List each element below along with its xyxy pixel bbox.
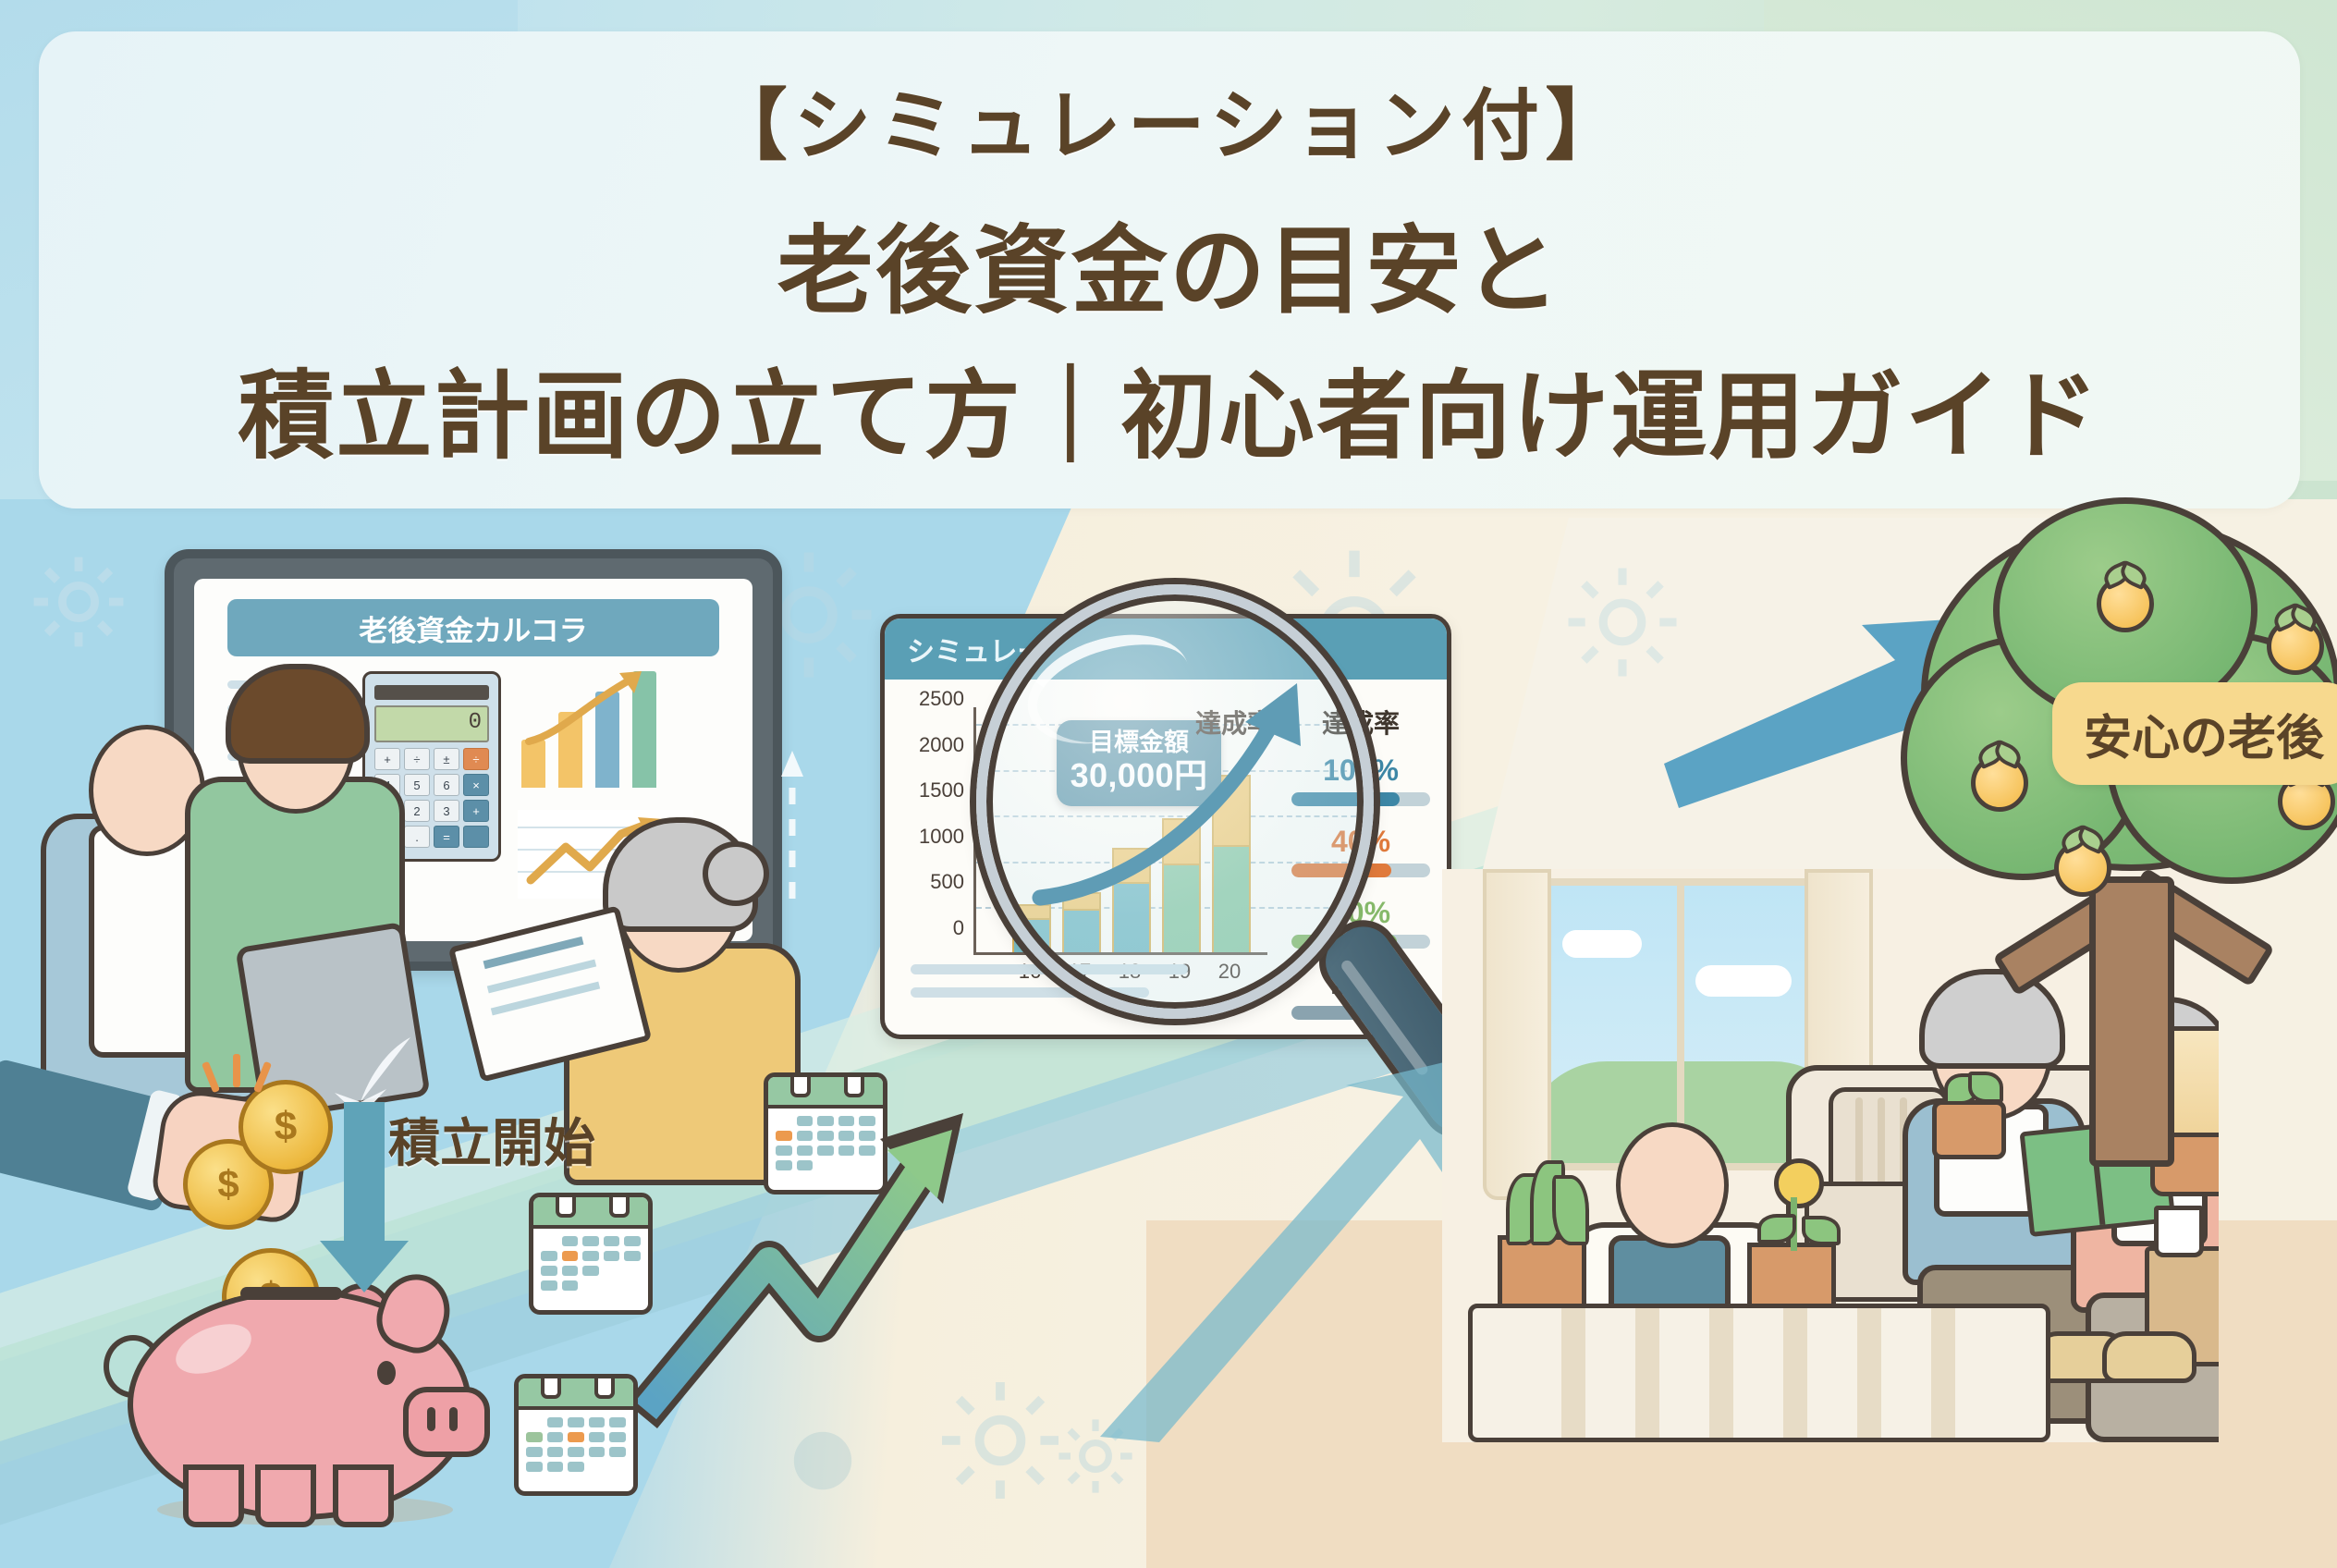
rug <box>1468 1304 2050 1442</box>
anshin-badge: 安心の老後 <box>2052 682 2337 785</box>
fruit-icon <box>1971 754 2028 812</box>
y-tick: 2500 <box>919 687 964 711</box>
y-tick: 1500 <box>919 778 964 802</box>
y-tick: 500 <box>930 870 964 894</box>
tsumitate-start-label: 積立開始 <box>388 1102 595 1177</box>
y-tick: 2000 <box>919 733 964 757</box>
piggy-bank-icon <box>102 1246 499 1524</box>
y-tick: 0 <box>953 916 964 940</box>
coin-icon: $ <box>239 1080 333 1174</box>
calendar-icon <box>529 1193 653 1315</box>
title-line-2: 老後資金の目安と <box>777 192 1562 332</box>
mug-icon <box>2154 1206 2204 1257</box>
fruit-icon <box>2097 575 2154 632</box>
fruit-icon <box>2267 618 2324 675</box>
gear-icon <box>28 551 129 653</box>
curtain-left <box>1483 869 1551 1200</box>
title-line-1: 【シミュレーション付】 <box>710 64 1630 176</box>
magnifier-lens <box>976 584 1374 1019</box>
down-arrow-icon <box>344 1102 385 1241</box>
sparkle-icon <box>233 1054 240 1087</box>
fruit-icon <box>2054 839 2111 897</box>
dashed-up-arrow <box>778 740 806 915</box>
fruit-tree-icon: 安心の老後 <box>1904 507 2337 1154</box>
magnifier-icon <box>976 584 1374 1019</box>
title-card: 【シミュレーション付】 老後資金の目安と 積立計画の立て方｜初心者向け運用ガイド <box>39 31 2300 508</box>
slipper-icon <box>2102 1331 2196 1383</box>
y-tick: 1000 <box>919 825 964 849</box>
title-line-3: 積立計画の立て方｜初心者向け運用ガイド <box>238 337 2101 477</box>
board-bar-chart <box>518 668 693 788</box>
calendar-icon <box>514 1374 638 1496</box>
zigzag-growth-arrow-icon <box>638 1080 1045 1431</box>
clipboard-document <box>462 925 638 1063</box>
illustration-canvas: 【シミュレーション付】 老後資金の目安と 積立計画の立て方｜初心者向け運用ガイド… <box>0 0 2337 1568</box>
